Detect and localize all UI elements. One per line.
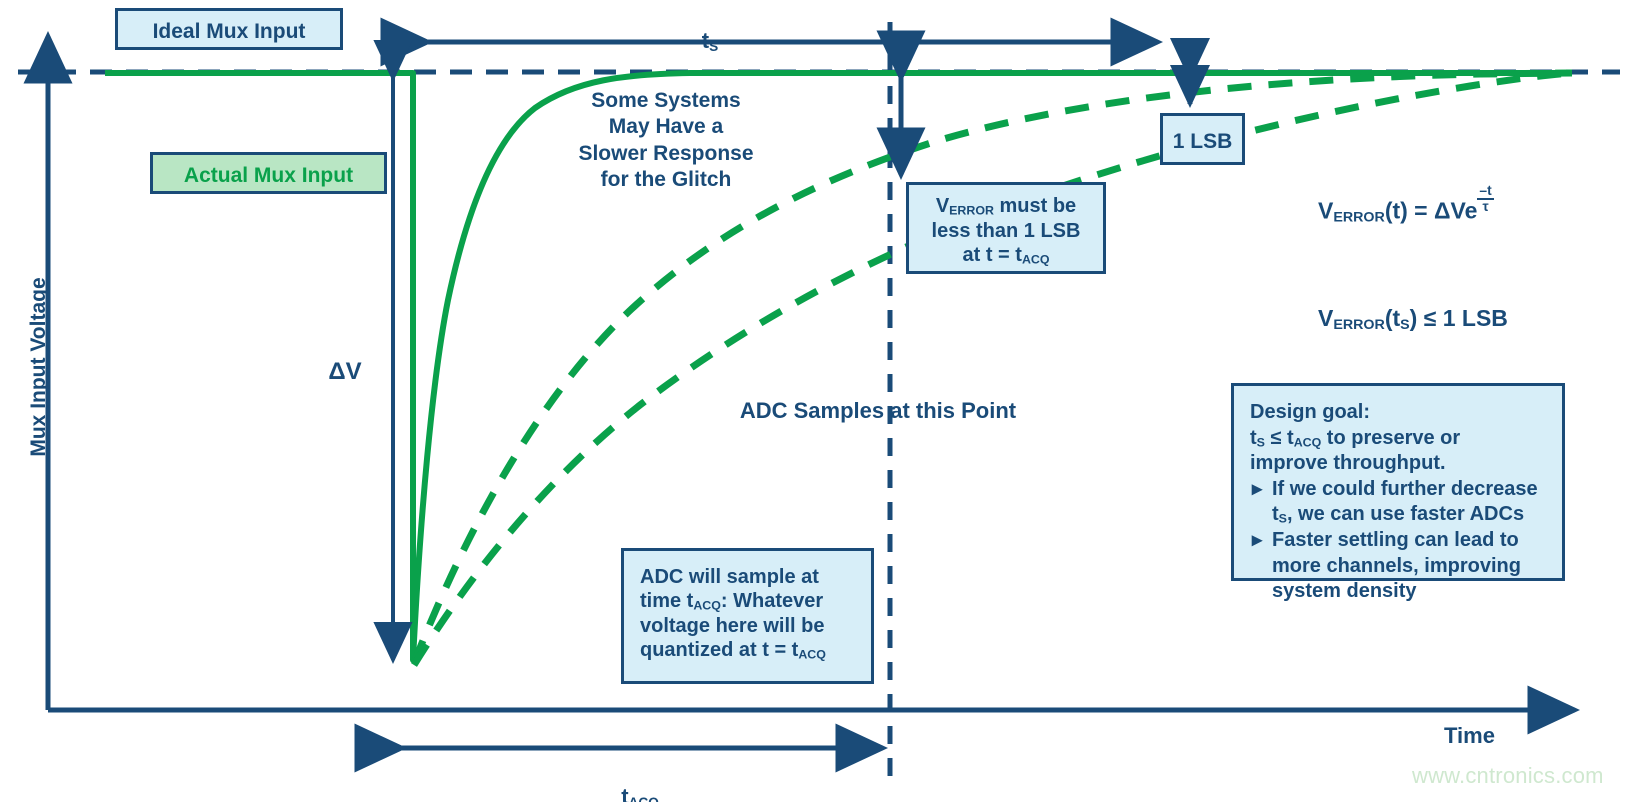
design-goal-bullet-2-line1: Faster settling can lead to (1272, 528, 1562, 554)
y-axis-label: Mux Input Voltage (27, 262, 51, 472)
adc-sample-line2: time tACQ: Whatever (640, 589, 871, 614)
adc-sample-line4: quantized at t = tACQ (640, 638, 871, 663)
delta-v-label: ΔV (305, 358, 385, 386)
tacq-label-sub: ACQ (629, 795, 659, 802)
adc-sample-line1: ADC will sample at (640, 565, 871, 589)
one-lsb-label: 1 LSB (1173, 130, 1233, 153)
verror-callout-line1: VERROR must be (909, 194, 1103, 219)
ts-label: tS (670, 2, 750, 55)
adc-sample-callout: ADC will sample at time tACQ: Whatever v… (621, 548, 874, 684)
design-goal-bullet-2-line3: system density (1272, 579, 1562, 605)
watermark: www.cntronics.com (1412, 763, 1604, 789)
verror-callout: VERROR must be less than 1 LSB at t = tA… (906, 182, 1106, 274)
x-axis-label: Time (1444, 723, 1495, 749)
design-goal-line-b: improve throughput. (1250, 451, 1562, 477)
design-goal-bullet-2: Faster settling can lead to more channel… (1250, 528, 1562, 605)
adc-sample-line3: voltage here will be (640, 614, 871, 638)
settling-time-diagram: Mux Input Voltage Time Ideal Mux Input A… (0, 0, 1637, 802)
one-lsb-callout: 1 LSB (1160, 113, 1245, 165)
exponent-fraction: –tτ (1477, 184, 1493, 214)
design-goal-callout: Design goal: tS ≤ tACQ to preserve or im… (1231, 383, 1565, 581)
adc-samples-note: ADC Samples at this Point (728, 398, 1028, 424)
design-goal-bullet-1-line2: tS, we can use faster ADCs (1272, 502, 1562, 528)
legend-actual-label: Actual Mux Input (184, 164, 353, 187)
verror-formula: VERROR(t) = ΔVe–tτ VERROR(tS) ≤ 1 LSB (1318, 113, 1608, 372)
design-goal-bullet-1-line1: If we could further decrease (1272, 477, 1562, 503)
design-goal-line-a: tS ≤ tACQ to preserve or (1250, 426, 1562, 452)
verror-callout-line2: less than 1 LSB (909, 219, 1103, 243)
legend-ideal-label: Ideal Mux Input (153, 20, 306, 43)
tacq-label-text: t (621, 784, 628, 802)
design-goal-bullet-1: If we could further decrease tS, we can … (1250, 477, 1562, 528)
formula-line-1: VERROR(t) = ΔVe–tτ (1318, 149, 1608, 230)
slower-response-note: Some Systems May Have a Slower Response … (566, 88, 766, 193)
verror-callout-line3: at t = tACQ (909, 243, 1103, 268)
legend-ideal-mux-input: Ideal Mux Input (115, 8, 343, 50)
ts-label-text: t (702, 28, 709, 53)
ts-label-sub: S (709, 39, 718, 54)
design-goal-title: Design goal: (1250, 400, 1562, 426)
design-goal-bullet-2-line2: more channels, improving (1272, 554, 1562, 580)
legend-actual-mux-input: Actual Mux Input (150, 152, 387, 194)
tacq-label: tACQ (575, 758, 705, 802)
formula-line-2: VERROR(tS) ≤ 1 LSB (1318, 265, 1608, 336)
